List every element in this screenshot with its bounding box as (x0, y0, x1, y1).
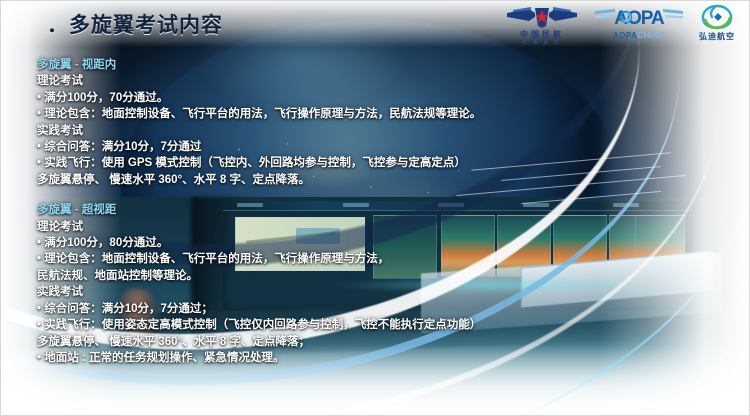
aopa-wordmark-icon: AOPA (593, 4, 685, 30)
practice-item: 综合问答：满分10分，7分通过； (37, 301, 737, 317)
aopa-sub-b: CHINA (637, 31, 665, 40)
theory-item-continued: 民航法规、地面站控制等理论。 (37, 268, 737, 284)
hongdi-logo: 弘迪航空 (699, 4, 735, 42)
aopa-logo-subtitle: AOPACHINA (613, 31, 665, 40)
theory-item: 满分100分，70分通过。 (37, 90, 737, 106)
section-spacer (37, 188, 737, 202)
section-header: 多旋翼 - 视距内 (37, 57, 737, 73)
theory-label: 理论考试 (37, 73, 737, 89)
theory-label: 理论考试 (37, 219, 737, 235)
section-header: 多旋翼 - 超视距 (37, 202, 737, 218)
practice-label: 实践考试 (37, 123, 737, 139)
aopa-sub-a: AOPA (613, 31, 638, 40)
section-within-visual-range: 多旋翼 - 视距内 理论考试 满分100分，70分通过。 理论包含：地面控制设备… (37, 57, 737, 188)
caac-logo-name: 中国民航 (520, 29, 564, 40)
theory-item: 理论包含：地面控制设备、飞行平台的用法，飞行操作原理与方法， (37, 251, 737, 267)
hongdi-swirl-icon (699, 4, 735, 30)
practice-label: 实践考试 (37, 284, 737, 300)
practice-item: 综合问答：满分10分，7分通过 (37, 139, 737, 155)
page-title: ．多旋翼考试内容 (47, 9, 223, 39)
hongdi-logo-name: 弘迪航空 (699, 31, 735, 42)
aopa-logo: AOPA AOPACHINA (593, 4, 685, 40)
maneuvers-line: 多旋翼悬停、 慢速水平 360°、水平 8 字、定点降落。 (37, 172, 737, 188)
caac-wings-star-icon (505, 4, 579, 28)
caac-logo: 中国民航 C A A C (505, 4, 579, 46)
theory-item: 理论包含：地面控制设备、飞行平台的用法，飞行操作原理与方法，民航法规等理论。 (37, 106, 737, 122)
slide-canvas: ．多旋翼考试内容 中国民航 C A A C (0, 0, 750, 416)
practice-item: 实践飞行：使用姿态定高模式控制（飞控仅内回路参与控制，飞控不能执行定点功能） (37, 317, 737, 333)
logo-group: 中国民航 C A A C AOPA AOPACHINA (505, 4, 735, 46)
ground-station-item: 地面站 : 正常的任务规划操作、紧急情况处理。 (37, 350, 737, 366)
theory-item: 满分100分，80分通过。 (37, 235, 737, 251)
slide-body: 多旋翼 - 视距内 理论考试 满分100分，70分通过。 理论包含：地面控制设备… (37, 57, 737, 366)
maneuvers-line: 多旋翼悬停、 慢速水平 360°、水平 8 字、定点降落； (37, 334, 737, 350)
section-beyond-visual-range: 多旋翼 - 超视距 理论考试 满分100分，80分通过。 理论包含：地面控制设备… (37, 202, 737, 366)
caac-logo-abbr: C A A C (523, 40, 561, 46)
practice-item: 实践飞行：使用 GPS 模式控制（飞控内、外回路均参与控制，飞控参与定高定点） (37, 155, 737, 171)
